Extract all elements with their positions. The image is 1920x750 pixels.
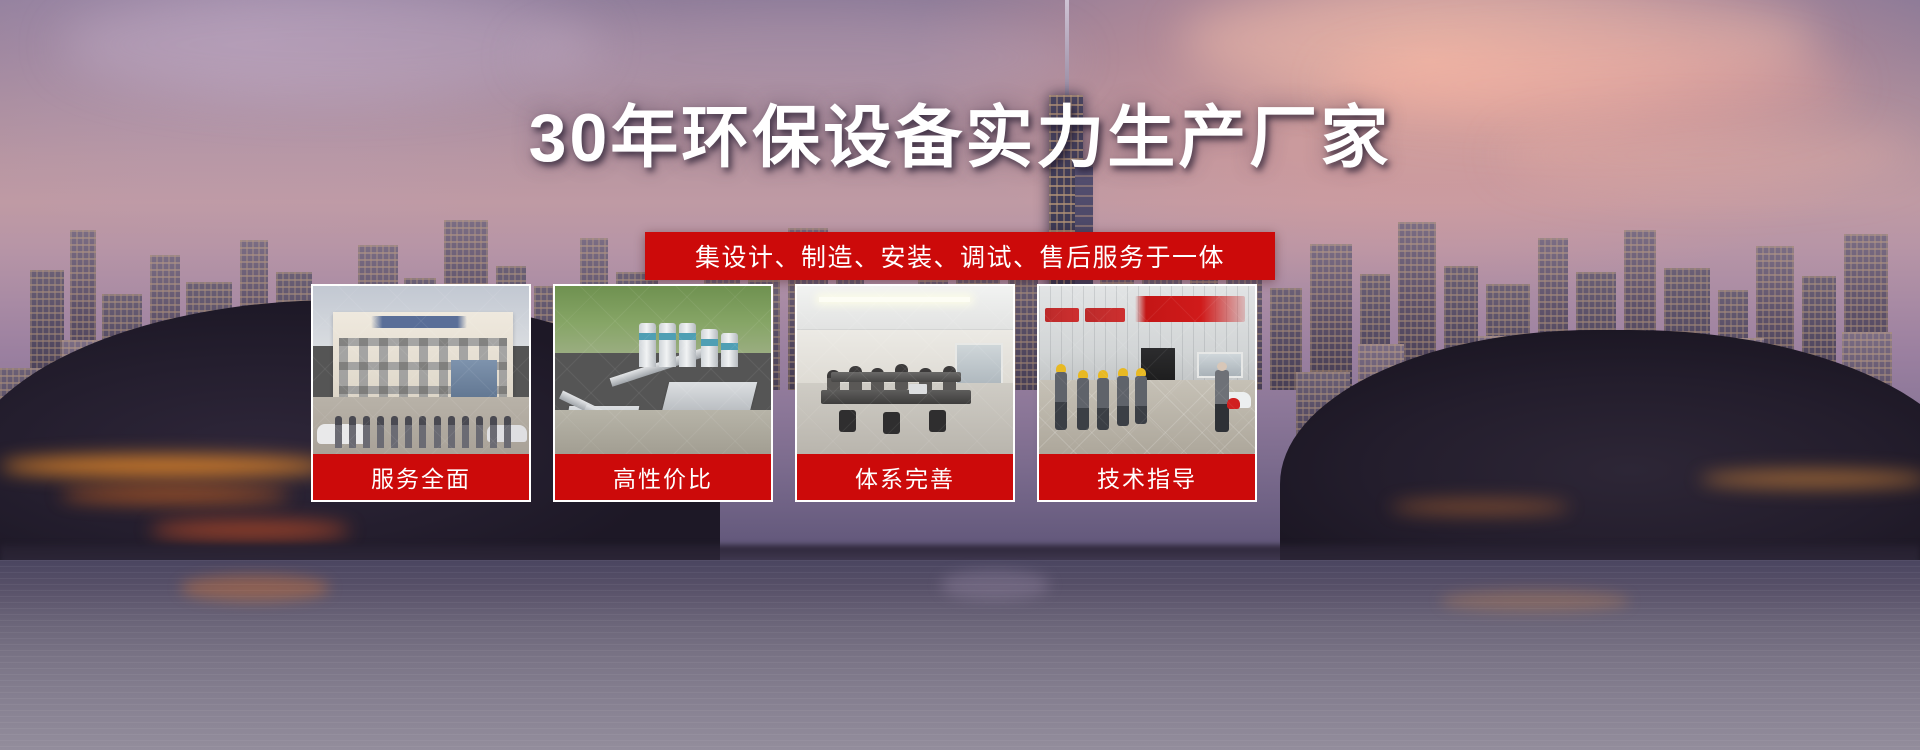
card-image-industrial-plant-aerial: [553, 284, 773, 454]
banner-headline: 30年环保设备实力生产厂家: [0, 104, 1920, 172]
card-caption: 高性价比: [553, 454, 773, 502]
feature-card[interactable]: 服务全面: [311, 284, 531, 610]
feature-card[interactable]: 高性价比: [553, 284, 773, 610]
card-image-office-meeting: [795, 284, 1015, 454]
feature-card[interactable]: 技术指导: [1037, 284, 1257, 610]
card-label: 服务全面: [371, 460, 471, 494]
red-helmet-icon: [1227, 398, 1240, 409]
banner-subtitle-text: 集设计、制造、安装、调试、售后服务于一体: [695, 238, 1225, 274]
card-label: 高性价比: [613, 460, 713, 494]
feature-card[interactable]: 体系完善: [795, 284, 1015, 610]
card-caption: 技术指导: [1037, 454, 1257, 502]
card-caption: 服务全面: [311, 454, 531, 502]
card-image-factory-workers-briefing: [1037, 284, 1257, 454]
banner-subtitle-bar: 集设计、制造、安装、调试、售后服务于一体: [645, 232, 1275, 280]
building-signage: [371, 316, 467, 328]
card-image-company-office-building: [311, 284, 531, 454]
card-label: 技术指导: [1097, 460, 1197, 494]
card-caption: 体系完善: [795, 454, 1015, 502]
banner-content: 30年环保设备实力生产厂家 集设计、制造、安装、调试、售后服务于一体: [0, 0, 1920, 750]
hero-banner: 30年环保设备实力生产厂家 集设计、制造、安装、调试、售后服务于一体: [0, 0, 1920, 750]
feature-card-list: 服务全面 高性价比: [311, 284, 1563, 610]
card-label: 体系完善: [855, 460, 955, 494]
factory-signage: [1135, 296, 1245, 322]
